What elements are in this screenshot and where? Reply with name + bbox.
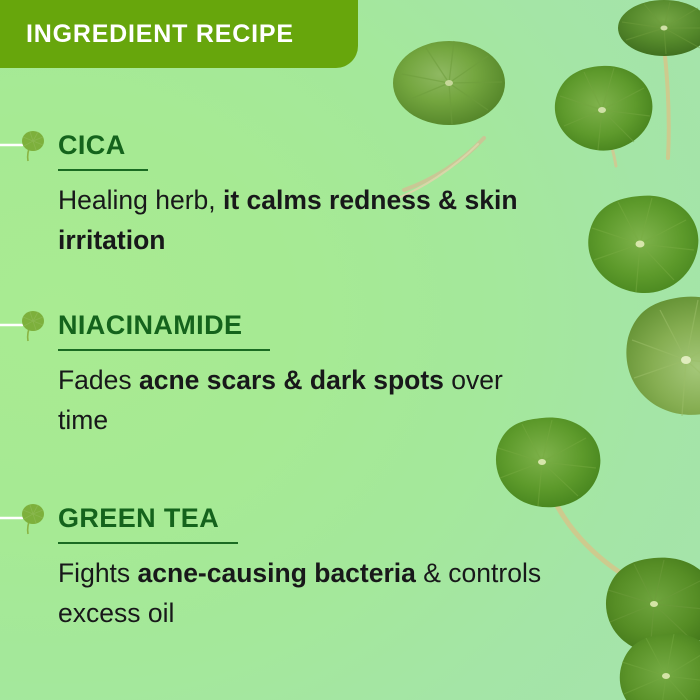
ingredient-heading-row: NIACINAMIDE (0, 308, 560, 342)
ingredient-heading-row: GREEN TEA (0, 501, 560, 535)
heading-underline (58, 349, 270, 351)
heading-underline (58, 542, 238, 544)
ingredient-recipe-poster: INGREDIENT RECIPE (0, 0, 700, 700)
ingredient-item: GREEN TEA Fights acne-causing bacteria &… (0, 501, 560, 634)
ingredient-name: NIACINAMIDE (58, 312, 242, 339)
pennywort-leaf-icon (596, 552, 700, 672)
page-title: INGREDIENT RECIPE (26, 20, 294, 49)
ingredient-heading-row: CICA (0, 128, 560, 162)
header-banner: INGREDIENT RECIPE (0, 0, 358, 68)
pennywort-leaf-icon (610, 282, 700, 432)
ingredient-name: GREEN TEA (58, 505, 219, 532)
ingredient-description: Healing herb, it calms redness & skin ir… (58, 181, 558, 261)
pennywort-leaf-icon (572, 186, 700, 316)
ingredient-description: Fights acne-causing bacteria & controls … (58, 554, 558, 634)
leaf-bullet-icon (0, 501, 58, 535)
ingredient-name: CICA (58, 132, 126, 159)
leaf-bullet-icon (0, 308, 58, 342)
pennywort-leaf-icon (612, 0, 700, 160)
ingredient-item: CICA Healing herb, it calms redness & sk… (0, 128, 560, 261)
heading-underline (58, 169, 148, 171)
ingredient-item: NIACINAMIDE Fades acne scars & dark spot… (0, 308, 560, 441)
leaf-bullet-icon (0, 128, 58, 162)
ingredient-description: Fades acne scars & dark spots over time (58, 361, 558, 441)
pennywort-leaf-icon (612, 630, 700, 700)
